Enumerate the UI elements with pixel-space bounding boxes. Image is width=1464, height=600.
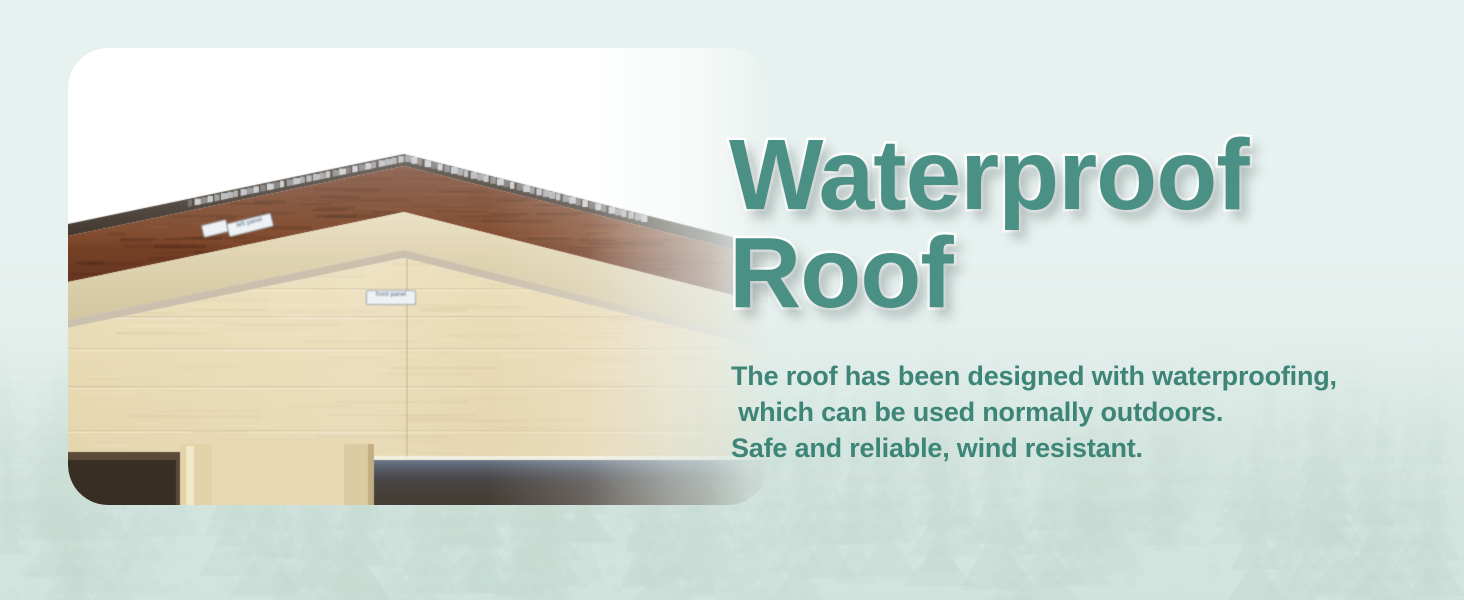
description-text: The roof has been designed with waterpro…	[731, 358, 1461, 466]
headline-line-1: Waterproof	[729, 126, 1429, 224]
headline-line-2: Roof	[729, 224, 1429, 322]
description-line-1: The roof has been designed with waterpro…	[731, 358, 1461, 394]
roof-photo-canvas	[68, 48, 768, 505]
promo-banner: left panel front panel Waterproof Roof T…	[0, 0, 1464, 600]
page-title: Waterproof Roof	[729, 126, 1429, 322]
product-photo-card	[68, 48, 768, 505]
description-line-3: Safe and reliable, wind resistant.	[731, 430, 1461, 466]
description-line-2: which can be used normally outdoors.	[731, 394, 1461, 430]
panel-sticker-front-panel: front panel	[366, 290, 416, 305]
